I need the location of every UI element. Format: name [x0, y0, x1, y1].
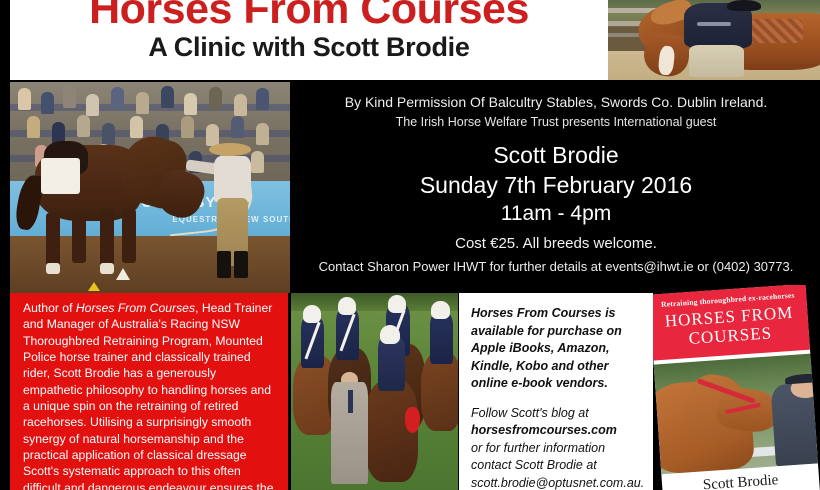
book-title-inline: Horses From Courses: [471, 306, 602, 320]
trainer-hat: [209, 143, 251, 156]
blog-url[interactable]: horsesfromcourses.com: [471, 423, 617, 437]
event-cost: Cost €25. All breeds welcome.: [292, 235, 820, 252]
arena-cone: [116, 268, 130, 280]
guest-name: Scott Brodie: [292, 142, 820, 169]
jacket-logo: [697, 22, 731, 26]
event-date: Sunday 7th February 2016: [292, 172, 820, 199]
official-tie: [348, 390, 353, 414]
rider-on-chestnut-horse-photo: [608, 0, 820, 80]
riding-helmet: [727, 0, 761, 11]
poster: Horses From Courses A Clinic with Scott …: [0, 0, 820, 490]
page-title: Horses From Courses: [10, 0, 608, 34]
event-details-panel: By Kind Permission Of Balcultry Stables,…: [292, 82, 820, 293]
bio-body: , Head Trainer and Manager of Australia'…: [23, 301, 273, 490]
contact-line: Contact Sharon Power IHWT for further de…: [292, 259, 820, 274]
prize-rosette: [405, 407, 420, 433]
trainer-and-horse-in-arena-photo: SPONSORED BY EQUESTRIAN NEW SOUTH: [10, 82, 290, 293]
further-info: or for further information contact Scott…: [471, 441, 605, 473]
number-cloth: [41, 158, 80, 194]
book-availability-panel: Horses From Courses is available for pur…: [459, 293, 653, 490]
book-contact-text: Follow Scott's blog at horsesfromcourses…: [459, 393, 653, 490]
bio-book-title: Horses From Courses: [76, 301, 195, 315]
event-time: 11am - 4pm: [292, 202, 820, 226]
rider-breeches: [689, 45, 744, 77]
permission-line: By Kind Permission Of Balcultry Stables,…: [292, 94, 820, 110]
arena-cone: [88, 282, 100, 291]
blog-intro: Follow Scott's blog at: [471, 406, 589, 420]
biography-text: Author of Horses From Courses, Head Trai…: [10, 293, 288, 490]
contact-email[interactable]: scott.brodie@optusnet.com.au.: [471, 476, 644, 490]
biography-panel: Author of Horses From Courses, Head Trai…: [10, 293, 288, 490]
book-cover-sheet: Retraining thoroughbred ex-racehorses HO…: [653, 285, 820, 490]
book-availability-text: Horses From Courses is available for pur…: [459, 293, 653, 393]
page-subtitle: A Clinic with Scott Brodie: [10, 30, 608, 64]
trainer-shirt: [214, 156, 250, 202]
title-card: Horses From Courses A Clinic with Scott …: [10, 0, 608, 80]
saddle-pad: [748, 19, 803, 43]
presents-line: The Irish Horse Welfare Trust presents I…: [292, 115, 820, 129]
bio-intro: Author of: [23, 301, 76, 315]
book-cover-photo: [654, 352, 820, 474]
book-cover-image: Retraining thoroughbred ex-racehorses HO…: [653, 285, 820, 490]
mounted-police-troop-photo: [291, 293, 458, 490]
